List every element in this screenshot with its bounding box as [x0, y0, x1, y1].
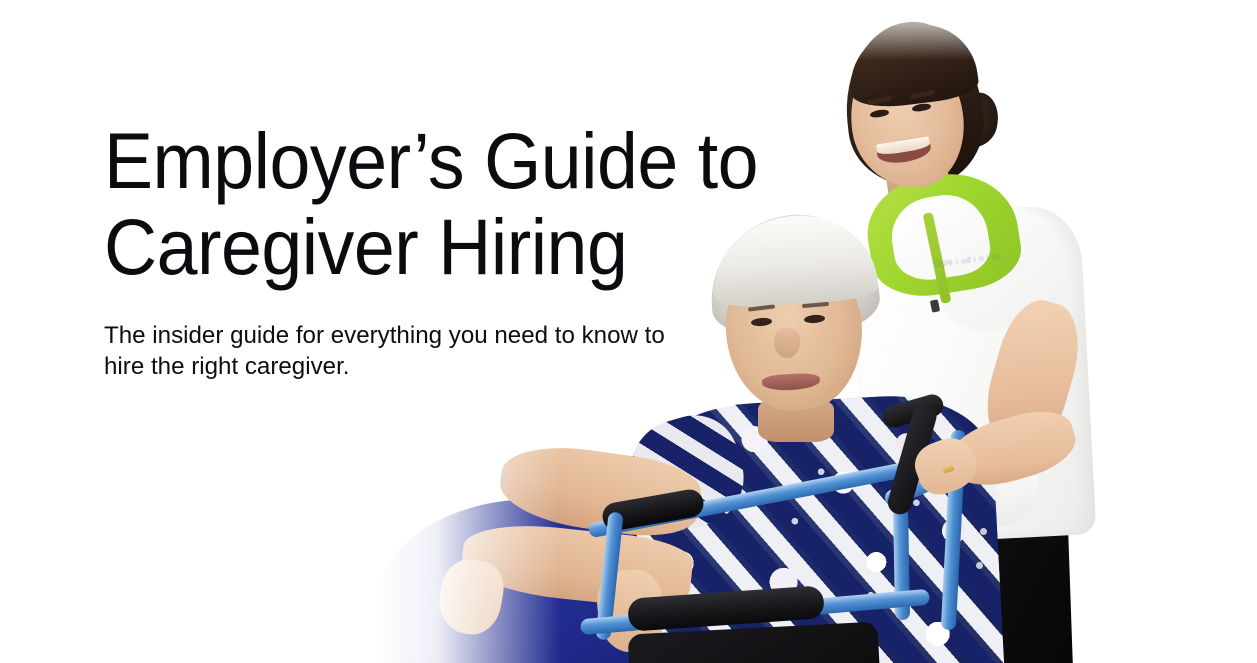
wheelchair-rivet [980, 528, 987, 535]
page-subtitle: The insider guide for everything you nee… [104, 290, 695, 382]
photo-edge-fade-right [1097, 0, 1257, 663]
hero-text-block: Employer’s Guide to Caregiver Hiring The… [104, 118, 824, 382]
page-title: Employer’s Guide to Caregiver Hiring [104, 118, 774, 290]
page-root: Ogle i ud i n i in [0, 0, 1257, 663]
photo-edge-fade-top [380, 0, 1257, 60]
wheelchair-rivet [976, 562, 983, 569]
